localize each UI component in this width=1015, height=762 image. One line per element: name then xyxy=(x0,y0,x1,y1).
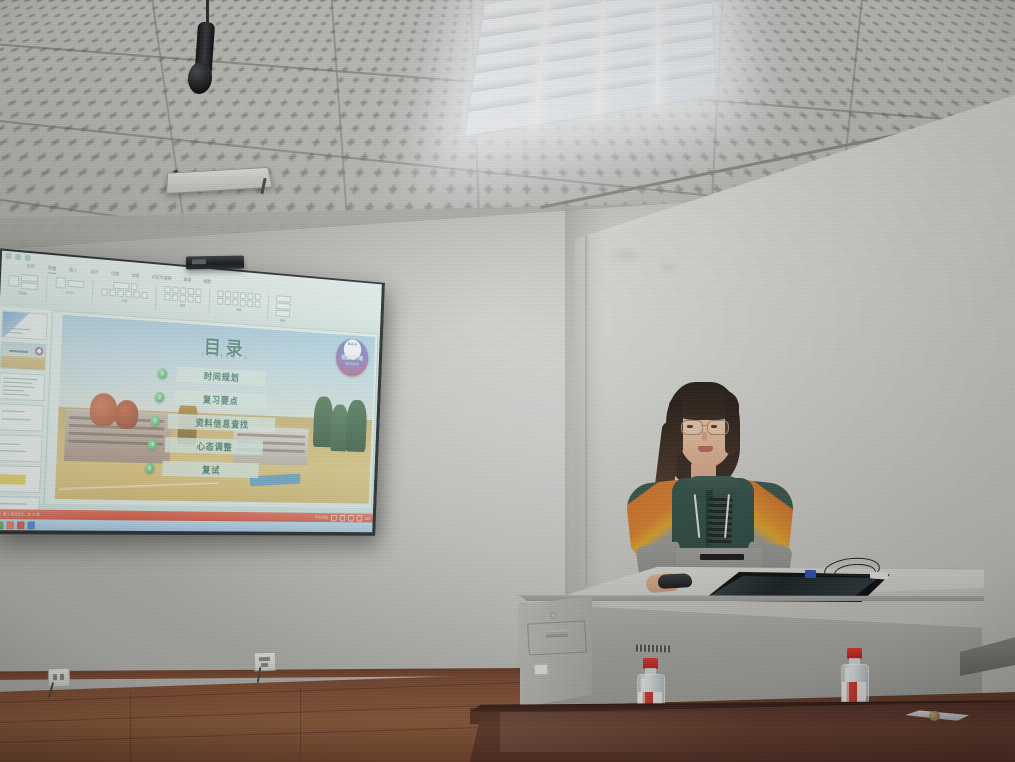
podium-label-plate xyxy=(636,645,670,653)
slide-contents-list: 1 时间规划 2 复习要点 3 资料信息查找 4 xyxy=(56,356,374,485)
language-indicator[interactable]: 中文(中国) xyxy=(315,516,328,521)
align-center-icon[interactable] xyxy=(172,294,178,301)
mouth xyxy=(698,446,713,452)
paste-icon[interactable] xyxy=(8,275,19,287)
wall-seam xyxy=(585,236,589,586)
contents-item-number: 2 xyxy=(155,392,165,403)
view-normal-icon[interactable] xyxy=(331,515,337,521)
tab-insert[interactable]: 插入 xyxy=(69,267,78,275)
contents-item-number: 5 xyxy=(145,463,155,474)
computer-mouse[interactable] xyxy=(658,573,693,589)
jacket-collar xyxy=(684,476,742,498)
glasses-lens-right xyxy=(707,420,729,435)
align-right-icon[interactable] xyxy=(180,295,186,302)
cut-icon[interactable] xyxy=(21,274,38,282)
front-table-reflection xyxy=(500,712,920,752)
tab-design[interactable]: 设计 xyxy=(90,269,99,277)
undo-icon[interactable] xyxy=(15,254,21,260)
find-icon[interactable] xyxy=(276,295,291,303)
jacket-pocket-text xyxy=(700,554,744,560)
browser-icon[interactable] xyxy=(6,521,14,529)
ribbon-group-paragraph[interactable]: 段落 xyxy=(164,286,202,309)
shape-triangle-icon[interactable] xyxy=(247,293,253,300)
indent-decrease-icon[interactable] xyxy=(180,287,186,294)
ceiling-projector xyxy=(186,255,244,269)
slide-thumbnail[interactable] xyxy=(0,372,45,401)
media-icon[interactable] xyxy=(27,521,35,529)
numbering-icon[interactable] xyxy=(172,287,178,294)
contents-item-label: 资料信息查找 xyxy=(167,413,275,432)
group-label: 剪贴板 xyxy=(18,290,27,296)
ribbon-group-drawing[interactable]: 绘图 xyxy=(217,290,261,313)
tab-animations[interactable]: 动画 xyxy=(131,273,139,281)
quick-styles-icon[interactable] xyxy=(247,300,253,307)
slide-editing-area[interactable]: 目录 CONTENTS 1 时间规划 2 复习要点 3 资 xyxy=(45,311,377,508)
view-reading-icon[interactable] xyxy=(348,515,354,521)
nose xyxy=(702,432,707,441)
view-slideshow-icon[interactable] xyxy=(357,515,363,521)
bullets-icon[interactable] xyxy=(164,286,170,293)
indent-increase-icon[interactable] xyxy=(188,288,194,295)
podium-sticker xyxy=(534,664,549,676)
group-label: 幻灯片 xyxy=(65,290,74,296)
ribbon-group-editing[interactable]: 编辑 xyxy=(275,295,291,323)
keyring-on-table[interactable] xyxy=(929,711,940,721)
contents-item-label: 复试 xyxy=(162,461,259,478)
select-icon[interactable] xyxy=(275,310,290,317)
glasses-bridge xyxy=(701,425,707,426)
tab-file[interactable]: 文件 xyxy=(26,264,35,273)
quick-access-toolbar[interactable] xyxy=(6,253,31,261)
tab-review[interactable]: 审阅 xyxy=(183,277,191,285)
group-label: 编辑 xyxy=(280,317,285,322)
shape-outline-icon[interactable] xyxy=(225,298,231,305)
justify-icon[interactable] xyxy=(187,295,193,302)
projection-screen: 文件 开始 插入 设计 切换 动画 幻灯片放映 审阅 视图 xyxy=(0,248,385,535)
contents-item-number: 1 xyxy=(157,368,167,379)
current-slide[interactable]: 目录 CONTENTS 1 时间规划 2 复习要点 3 资 xyxy=(55,315,375,504)
shadow-icon[interactable] xyxy=(133,291,139,298)
slide-thumbnail[interactable] xyxy=(0,403,44,432)
tab-view[interactable]: 视图 xyxy=(203,279,211,287)
logo-line-1: 鼓励的开端 xyxy=(341,353,363,362)
slide-thumbnail[interactable] xyxy=(0,341,46,370)
replace-icon[interactable] xyxy=(276,302,291,310)
save-icon[interactable] xyxy=(6,253,12,259)
shape-arrow-icon[interactable] xyxy=(233,292,239,299)
redo-icon[interactable] xyxy=(25,255,31,261)
windows-taskbar[interactable] xyxy=(0,519,373,532)
podium-drawer[interactable] xyxy=(527,621,587,656)
tab-slideshow[interactable]: 幻灯片放映 xyxy=(152,274,172,283)
layout-icon[interactable] xyxy=(68,280,85,288)
contents-item-number: 3 xyxy=(150,416,160,427)
font-name-box[interactable] xyxy=(113,282,129,290)
ribbon-group-slides[interactable]: 幻灯片 xyxy=(55,277,84,296)
white-connector xyxy=(870,571,888,579)
font-color-icon[interactable] xyxy=(141,292,147,299)
ribbon-group-clipboard[interactable]: 剪贴板 xyxy=(8,273,38,296)
columns-icon[interactable] xyxy=(195,296,201,303)
font-size-box[interactable] xyxy=(131,283,137,290)
view-sorter-icon[interactable] xyxy=(340,515,346,521)
shape-star-icon[interactable] xyxy=(255,293,261,300)
underline-icon[interactable] xyxy=(117,290,124,297)
wall-outlet[interactable] xyxy=(254,652,277,672)
slide-thumbnail[interactable] xyxy=(1,311,48,341)
contents-item-label: 复习要点 xyxy=(174,390,267,409)
new-slide-icon[interactable] xyxy=(55,277,66,289)
shape-fill-icon[interactable] xyxy=(217,298,223,305)
tab-home[interactable]: 开始 xyxy=(48,265,57,274)
slide-thumbnail[interactable] xyxy=(0,434,43,462)
logo-arc-text: NAU xyxy=(348,341,358,346)
slide-thumbnail-pane[interactable] xyxy=(0,306,53,504)
slide-counter: 第 2 张幻灯片，共 24 张 xyxy=(3,512,40,517)
presenter xyxy=(622,378,802,590)
arrange-icon[interactable] xyxy=(240,300,246,307)
group-label: 绘图 xyxy=(236,307,241,312)
pdf-icon[interactable] xyxy=(17,521,25,529)
wall-mark xyxy=(612,250,638,260)
tab-transitions[interactable]: 切换 xyxy=(111,271,119,279)
italic-icon[interactable] xyxy=(109,289,116,296)
group-label: 段落 xyxy=(180,302,186,307)
glasses-lens-left xyxy=(681,420,703,435)
shape-circle-icon[interactable] xyxy=(225,291,231,298)
slide-thumbnail[interactable] xyxy=(0,465,41,493)
zoom-level[interactable]: 68% xyxy=(365,517,370,521)
bold-icon[interactable] xyxy=(101,288,108,295)
classroom-scene: 文件 开始 插入 设计 切换 动画 幻灯片放映 审阅 视图 xyxy=(0,0,1015,762)
group-label: 字体 xyxy=(122,298,128,303)
shape-line-icon[interactable] xyxy=(240,292,246,299)
contents-item-number: 4 xyxy=(147,439,157,450)
contents-item-label: 心态调整 xyxy=(165,437,263,455)
projected-desktop: 文件 开始 插入 设计 切换 动画 幻灯片放映 审阅 视图 xyxy=(0,251,382,533)
shape-rect-icon[interactable] xyxy=(217,290,223,297)
blue-connector xyxy=(805,570,816,578)
contents-item-label: 时间规划 xyxy=(176,366,266,386)
ribbon-group-font[interactable]: 字体 xyxy=(101,281,148,305)
align-left-icon[interactable] xyxy=(164,294,170,301)
logo-line-2: 多彩的未来 xyxy=(345,362,359,367)
shape-more-icon[interactable] xyxy=(255,301,261,308)
wall-mark xyxy=(660,264,676,271)
line-spacing-icon[interactable] xyxy=(195,289,201,296)
start-menu-icon[interactable] xyxy=(0,521,4,529)
strikethrough-icon[interactable] xyxy=(125,290,132,297)
shape-effects-icon[interactable] xyxy=(232,299,238,306)
copy-icon[interactable] xyxy=(21,282,38,290)
